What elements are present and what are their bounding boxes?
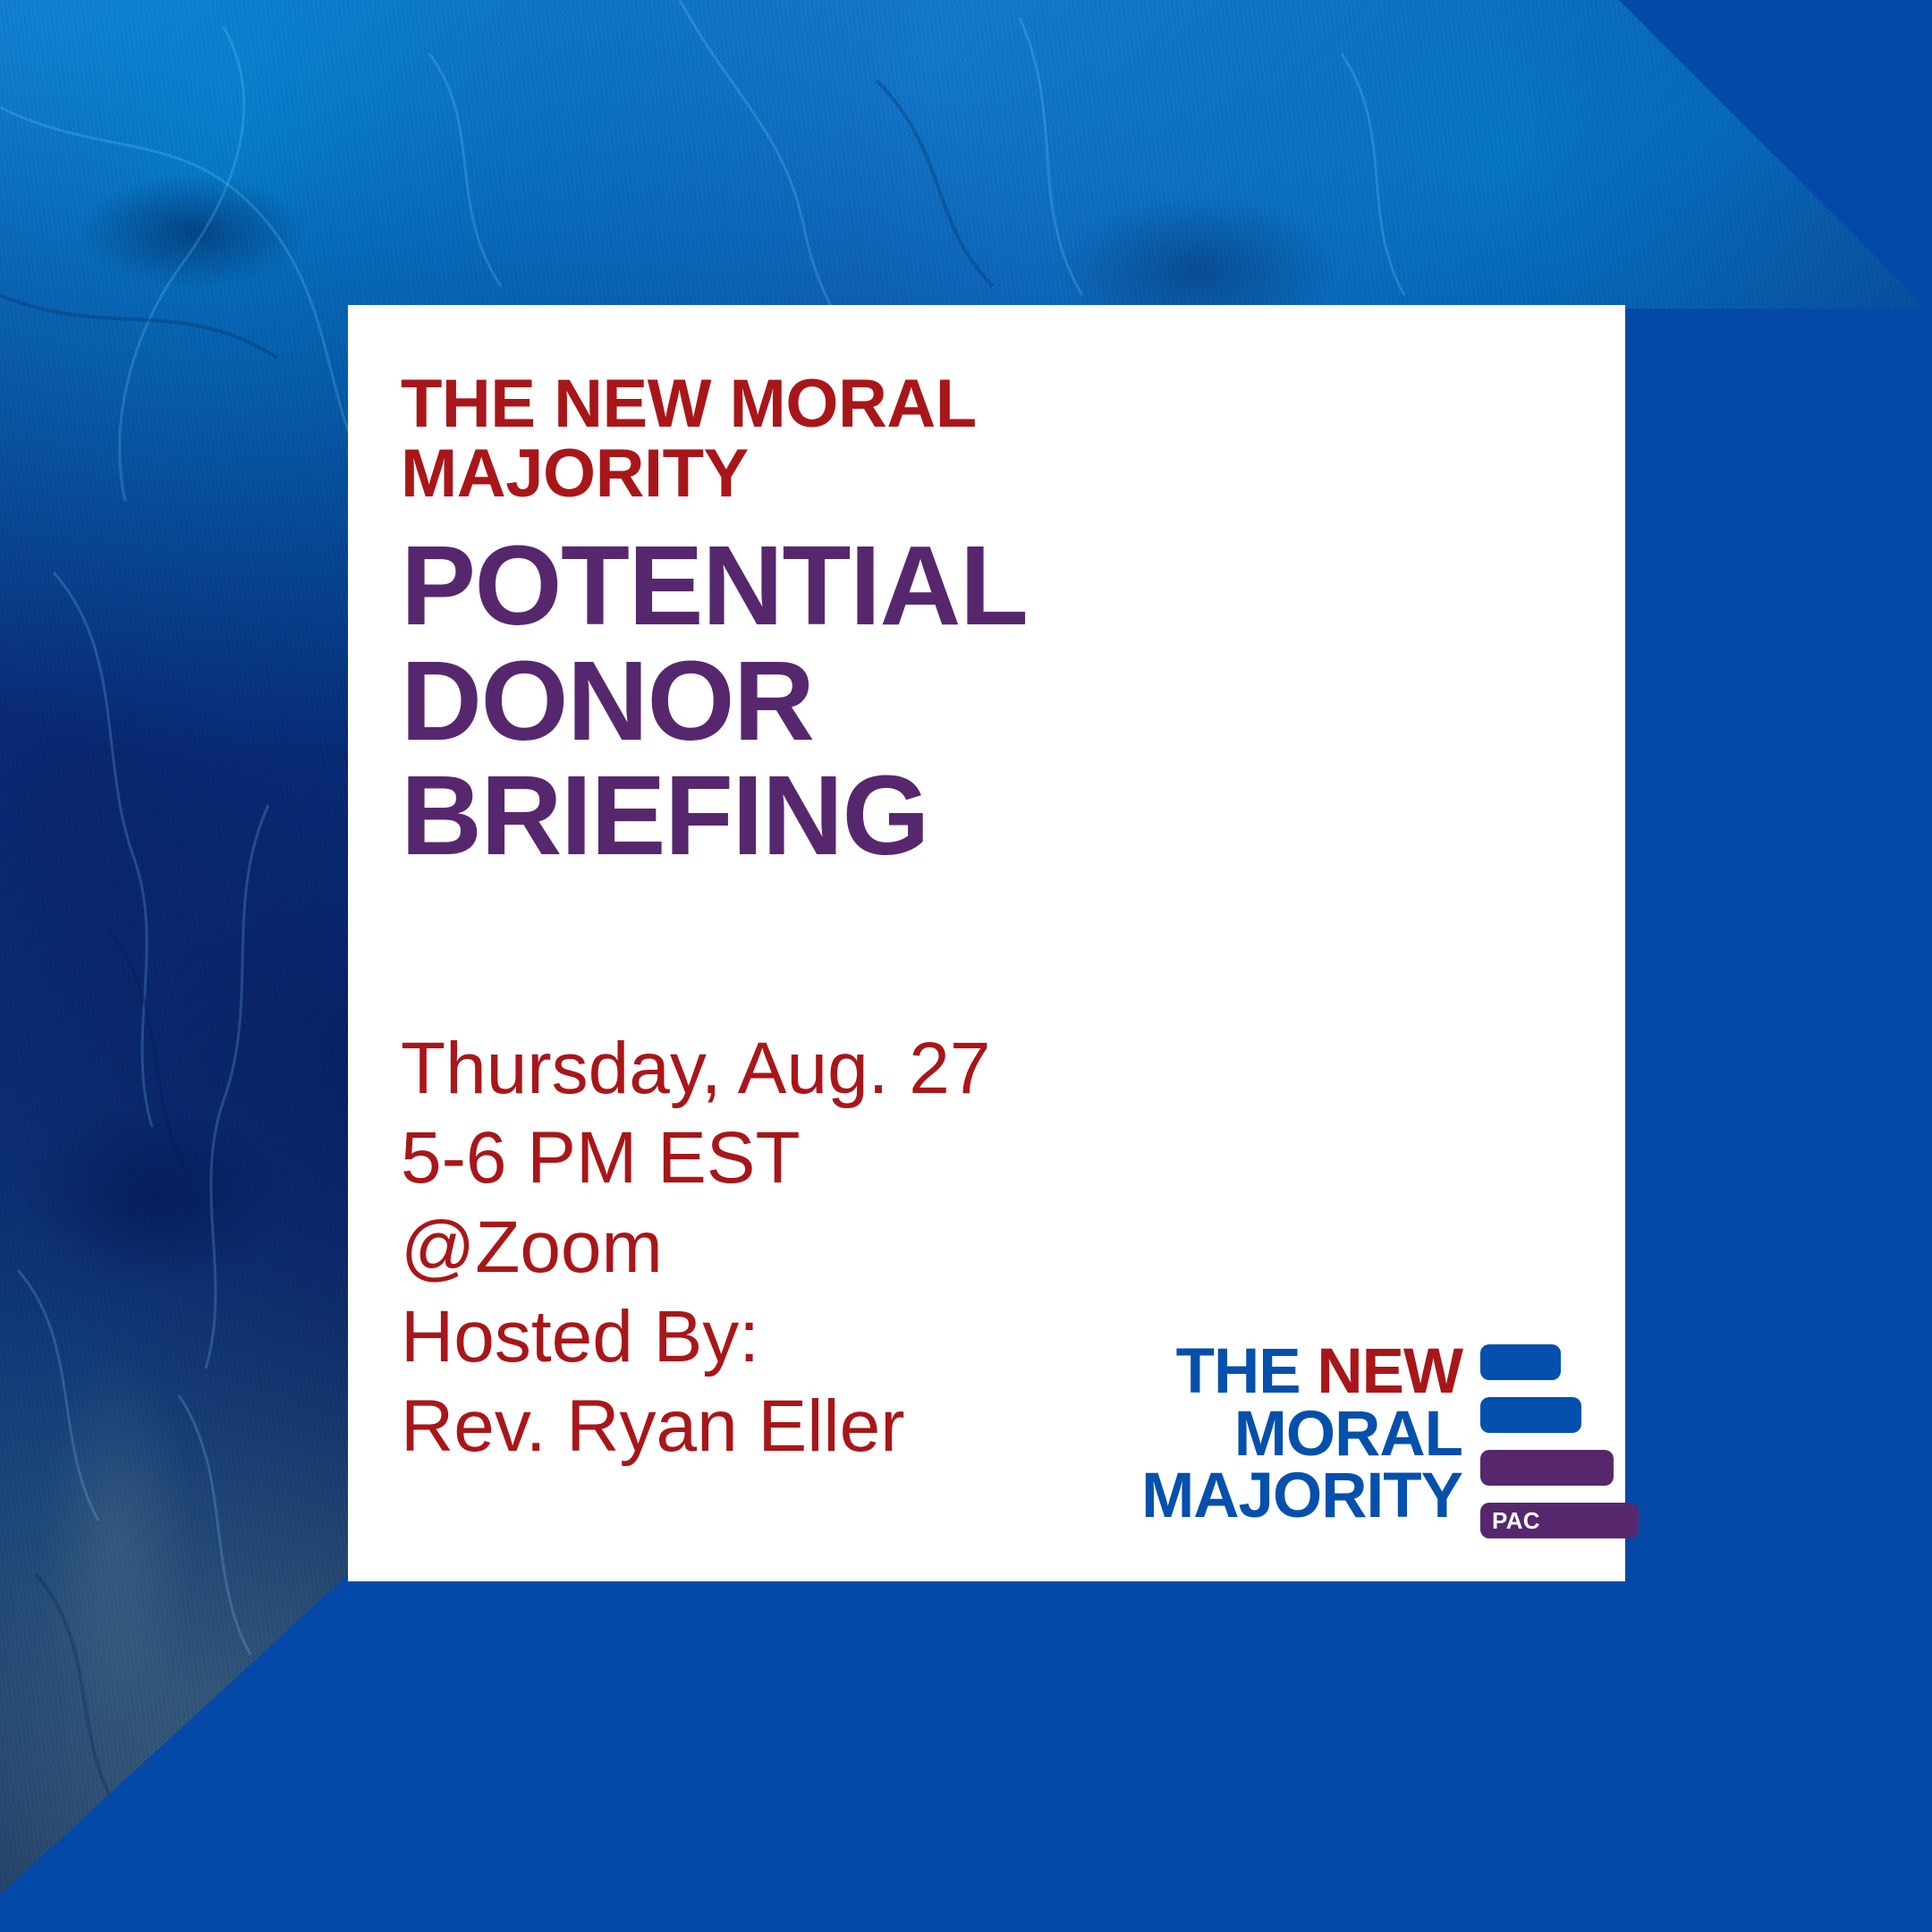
logo-wordmark: THE NEW MORAL MAJORITY	[1086, 1341, 1462, 1528]
page-title: POTENTIAL DONOR BRIEFING	[401, 529, 1206, 874]
content-card: THE NEW MORAL MAJORITY POTENTIAL DONOR B…	[348, 305, 1625, 1581]
event-date: Thursday, Aug. 27	[401, 1024, 1206, 1114]
organization-eyebrow: THE NEW MORAL MAJORITY	[401, 369, 1170, 508]
logo-pac-label: PAC	[1492, 1509, 1540, 1532]
logo-bar-four: PAC	[1480, 1503, 1639, 1538]
logo-word-the: THE	[1176, 1336, 1318, 1407]
logo-bar-three	[1480, 1450, 1614, 1486]
logo-word-moral: MORAL	[1086, 1403, 1462, 1466]
card-inner: THE NEW MORAL MAJORITY POTENTIAL DONOR B…	[401, 305, 1625, 1581]
logo-word-new: NEW	[1317, 1336, 1462, 1407]
logo-bar-one	[1480, 1344, 1561, 1380]
logo-bar-stack-icon: PAC	[1480, 1344, 1641, 1538]
event-host-name: Rev. Ryan Eller	[401, 1382, 1206, 1471]
event-flyer: THE NEW MORAL MAJORITY POTENTIAL DONOR B…	[0, 0, 1932, 1932]
event-time: 5-6 PM EST	[401, 1114, 1206, 1203]
organization-logo: THE NEW MORAL MAJORITY PAC	[1086, 1334, 1625, 1557]
event-host-label: Hosted By:	[401, 1292, 1206, 1382]
logo-word-majority: MAJORITY	[1086, 1465, 1462, 1528]
logo-bar-two	[1480, 1397, 1581, 1433]
event-details: Thursday, Aug. 27 5-6 PM EST @Zoom Hoste…	[401, 1024, 1206, 1471]
event-location: @Zoom	[401, 1203, 1206, 1292]
logo-line-one: THE NEW	[1086, 1341, 1462, 1403]
right-blue-panel	[1625, 309, 1932, 1579]
